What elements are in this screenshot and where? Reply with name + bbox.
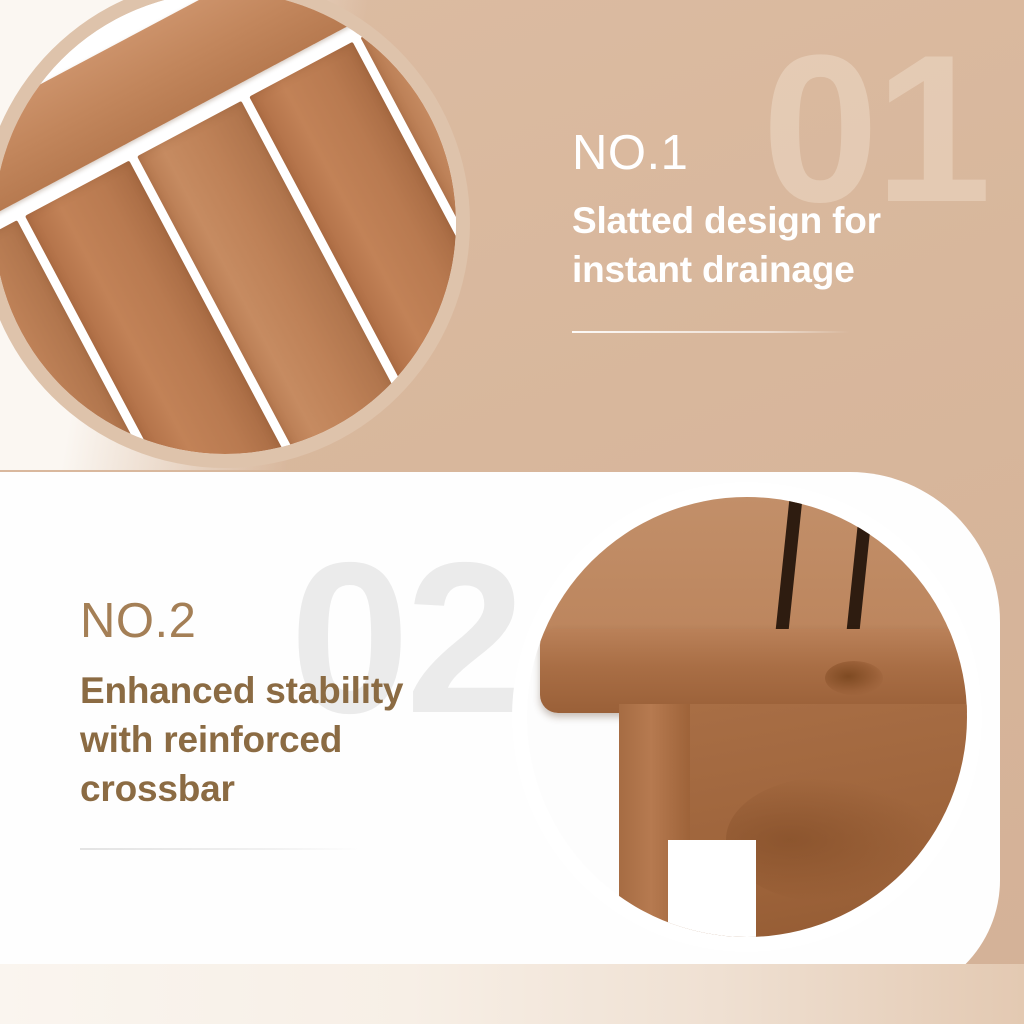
slatted-tabletop-closeup-image	[0, 0, 456, 454]
feature-two-divider	[80, 848, 360, 850]
feature-one-divider	[572, 331, 850, 333]
reinforced-crossbar-closeup-image	[527, 497, 967, 937]
infographic-canvas: 01 02	[0, 0, 1024, 1024]
feature-one-text-block: NO.1 Slatted design for instant drainage	[572, 128, 944, 333]
feature-two-photo-circle	[512, 482, 982, 952]
feature-one-photo-circle	[0, 0, 470, 468]
background-bottom-strip	[0, 964, 1024, 1024]
slat-deck-group	[0, 0, 456, 454]
feature-two-text-block: NO.2 Enhanced stability with reinforced …	[80, 596, 470, 850]
tabletop-slats-band	[527, 497, 967, 642]
wood-grain-ring	[726, 776, 939, 904]
feature-two-eyebrow: NO.2	[80, 596, 470, 647]
wood-knot	[825, 661, 883, 695]
feature-one-eyebrow: NO.1	[572, 128, 944, 179]
feature-two-headline: Enhanced stability with reinforced cross…	[80, 667, 470, 813]
feature-one-headline: Slatted design for instant drainage	[572, 197, 944, 295]
tabletop-edge-beam	[540, 629, 967, 713]
photo-background-wedge	[668, 840, 756, 937]
